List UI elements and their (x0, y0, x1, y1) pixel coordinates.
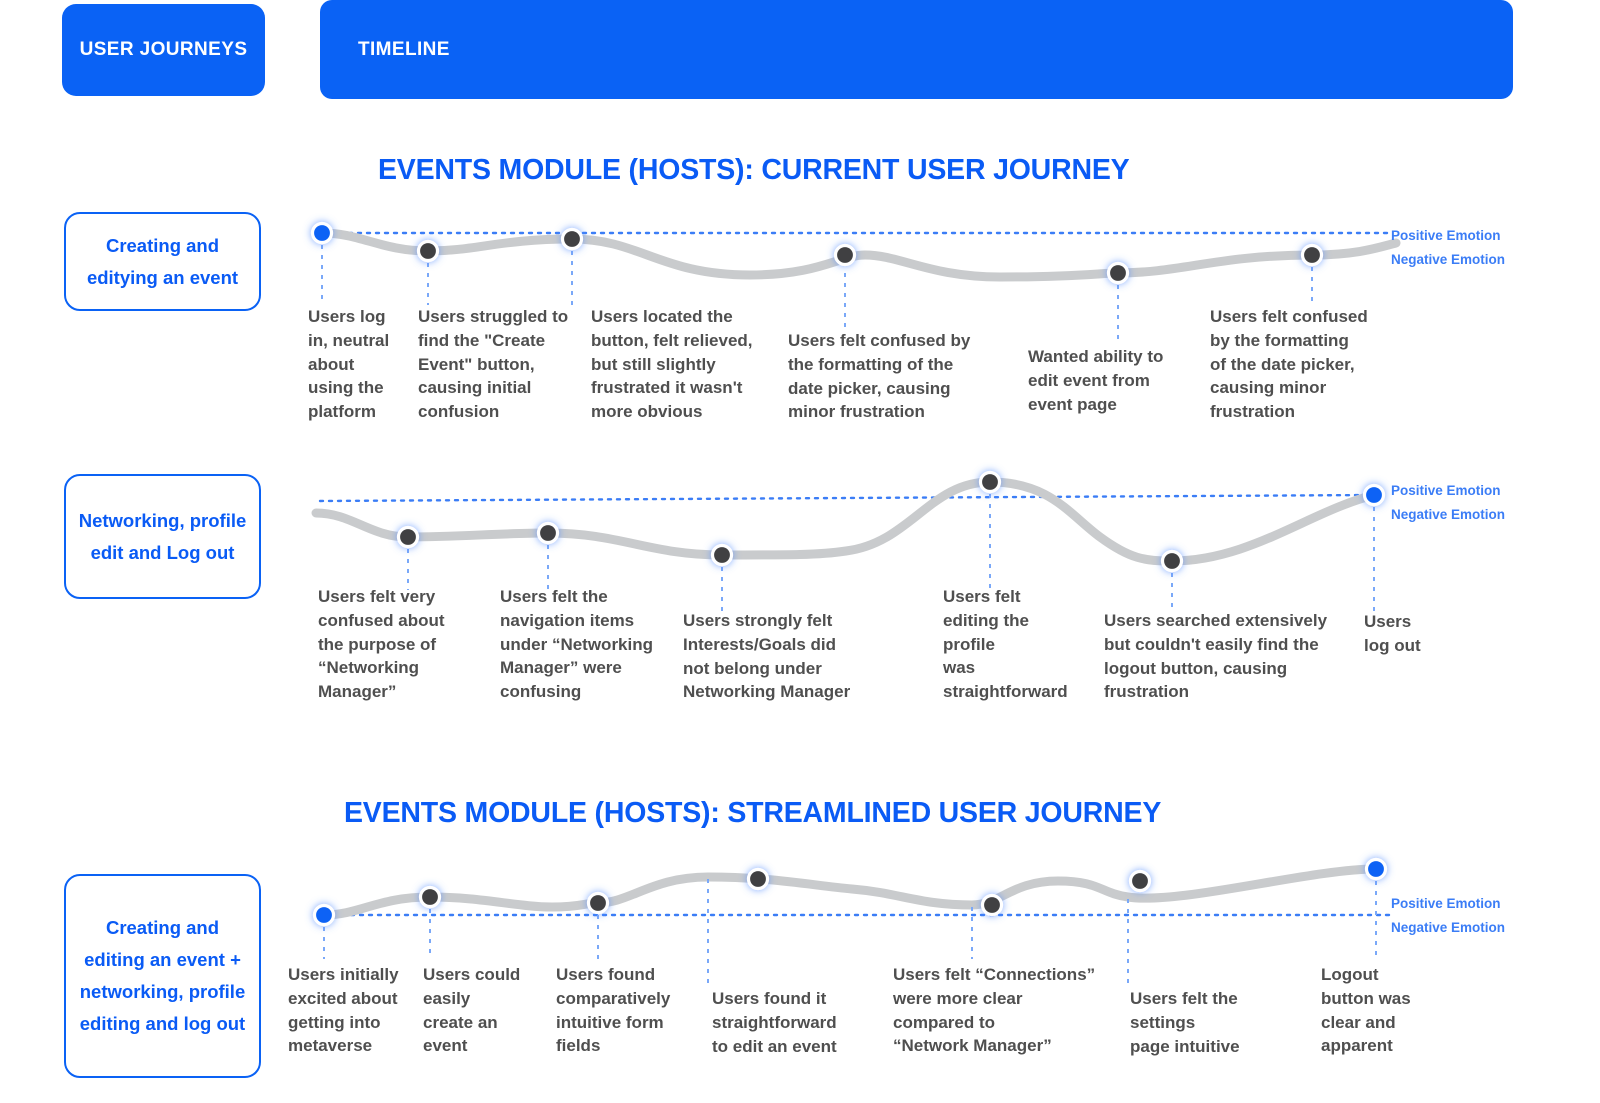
milestone-dot[interactable] (399, 528, 418, 547)
milestone-dot[interactable] (1163, 552, 1182, 571)
legend-positive-label: Positive Emotion (1391, 892, 1505, 916)
journey-chart-streamlined (300, 855, 1410, 935)
negative-emotion-curve (324, 869, 1376, 915)
milestone-dots (399, 473, 1384, 571)
legend-negative-label: Negative Emotion (1391, 248, 1505, 272)
milestone-dot[interactable] (749, 870, 768, 889)
journey-3-note-3: Users found comparatively intuitive form… (556, 963, 670, 1058)
milestone-dot[interactable] (589, 894, 608, 913)
stage-box-creating-editing-event[interactable]: Creating and editying an event (64, 212, 261, 311)
journey-2-note-5: Users searched extensively but couldn't … (1104, 609, 1327, 704)
milestone-dot[interactable] (1131, 872, 1150, 891)
stage-label: Creating and editing an event + networki… (76, 912, 249, 1039)
header-timeline: TIMELINE (320, 0, 1513, 99)
milestone-dot[interactable] (1109, 264, 1128, 283)
milestone-dot-positive[interactable] (1367, 860, 1386, 879)
journey-3-note-1: Users initially excited about getting in… (288, 963, 399, 1058)
journey-1-note-4: Users felt confused by the formatting of… (788, 329, 970, 424)
milestone-dot-positive[interactable] (315, 906, 334, 925)
journey-3-note-7: Logout button was clear and apparent (1321, 963, 1411, 1058)
journey-2-svg (300, 455, 1410, 590)
negative-emotion-curve (322, 233, 1396, 277)
milestone-dot[interactable] (713, 546, 732, 565)
milestone-dot[interactable] (419, 242, 438, 261)
negative-emotion-curve (316, 482, 1374, 561)
journey-3-note-6: Users felt the settings page intuitive (1130, 987, 1240, 1058)
journey-2-note-1: Users felt very confused about the purpo… (318, 585, 445, 704)
journey-3-note-5: Users felt “Connections” were more clear… (893, 963, 1095, 1058)
journey-2-note-4: Users felt editing the profile was strai… (943, 585, 1068, 704)
stage-box-networking-profile-logout[interactable]: Networking, profile edit and Log out (64, 474, 261, 599)
journey-1-note-5: Wanted ability to edit event from event … (1028, 345, 1163, 416)
legend-journey-3: Positive Emotion Negative Emotion (1391, 892, 1505, 939)
milestone-dot[interactable] (1303, 246, 1322, 265)
journey-chart-current-networking (300, 455, 1410, 590)
legend-positive-label: Positive Emotion (1391, 224, 1505, 248)
stage-label: Networking, profile edit and Log out (76, 505, 249, 569)
journey-chart-current-creating-event (300, 215, 1410, 305)
milestone-dot-positive[interactable] (1365, 486, 1384, 505)
journey-3-svg (300, 855, 1410, 935)
legend-negative-label: Negative Emotion (1391, 916, 1505, 940)
stage-box-combined-streamlined[interactable]: Creating and editing an event + networki… (64, 874, 261, 1078)
milestone-dot[interactable] (563, 230, 582, 249)
milestone-dot[interactable] (421, 888, 440, 907)
legend-journey-1: Positive Emotion Negative Emotion (1391, 224, 1505, 271)
header-user-journeys-label: USER JOURNEYS (80, 37, 248, 63)
journey-2-note-3: Users strongly felt Interests/Goals did … (683, 609, 850, 704)
milestone-dot[interactable] (981, 473, 1000, 492)
journey-1-note-2: Users struggled to find the "Create Even… (418, 305, 568, 424)
legend-positive-label: Positive Emotion (1391, 479, 1505, 503)
journey-1-note-1: Users log in, neutral about using the pl… (308, 305, 389, 424)
journey-3-note-4: Users found it straightforward to edit a… (712, 987, 837, 1058)
legend-journey-2: Positive Emotion Negative Emotion (1391, 479, 1505, 526)
journey-1-note-3: Users located the button, felt relieved,… (591, 305, 753, 424)
milestone-dot[interactable] (539, 524, 558, 543)
journey-2-note-6: Users log out (1364, 610, 1421, 658)
positive-emotion-baseline (320, 495, 1374, 501)
header-timeline-label: TIMELINE (358, 39, 450, 61)
milestone-dot[interactable] (836, 246, 855, 265)
milestone-dot-positive[interactable] (313, 224, 332, 243)
journey-1-note-6: Users felt confused by the formatting of… (1210, 305, 1368, 424)
user-journey-map: USER JOURNEYS TIMELINE EVENTS MODULE (HO… (0, 0, 1600, 1103)
journey-2-note-2: Users felt the navigation items under “N… (500, 585, 653, 704)
legend-negative-label: Negative Emotion (1391, 503, 1505, 527)
journey-1-svg (300, 215, 1410, 305)
milestone-dot[interactable] (983, 896, 1002, 915)
section-title-current: EVENTS MODULE (HOSTS): CURRENT USER JOUR… (378, 154, 1129, 187)
stage-label: Creating and editying an event (76, 230, 249, 294)
section-title-streamlined: EVENTS MODULE (HOSTS): STREAMLINED USER … (344, 797, 1161, 830)
journey-3-note-2: Users could easily create an event (423, 963, 520, 1058)
header-user-journeys: USER JOURNEYS (62, 4, 265, 96)
